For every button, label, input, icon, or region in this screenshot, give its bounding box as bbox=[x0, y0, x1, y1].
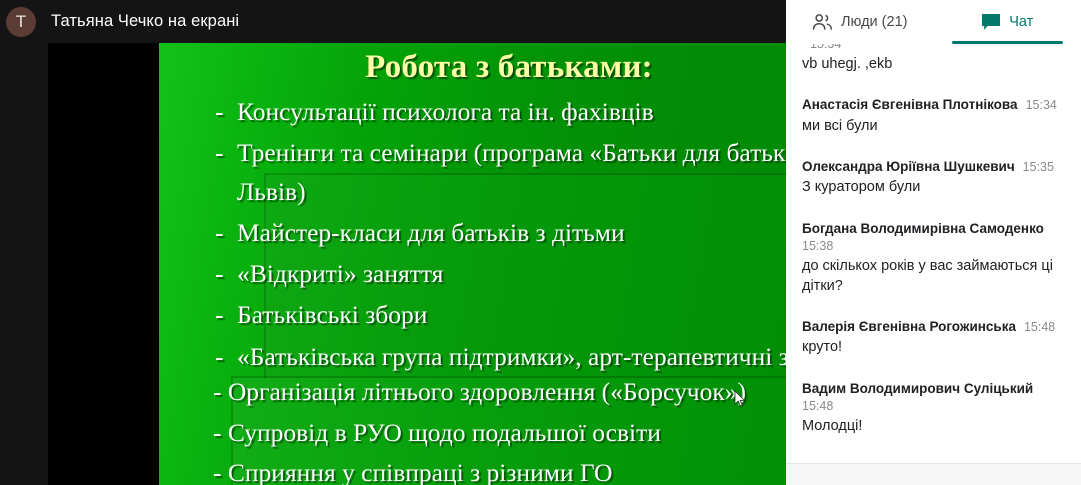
bullet-text: Батьківські збори bbox=[237, 296, 786, 334]
avatar: T bbox=[6, 7, 36, 37]
chat-message: Валерія Євгенівна Рогожинська 15:48 крут… bbox=[786, 318, 1081, 358]
bullet-dash: - bbox=[215, 255, 237, 293]
chat-message-text: vb uhegj. ,ekb bbox=[802, 55, 1065, 75]
chat-message-header: Анастасія Євгенівна Плотнікова 15:34 bbox=[802, 96, 1065, 114]
presenter-topbar: T Татьяна Чечко на екрані bbox=[0, 0, 786, 43]
slide-bullet-list-lower: - Організація літнього здоровлення («Бор… bbox=[213, 373, 786, 485]
page-title: Татьяна Чечко на екрані bbox=[51, 12, 239, 31]
chat-message-time: 15:48 bbox=[1024, 319, 1055, 336]
chat-message-author: Вадим Володимирович Суліцький bbox=[802, 380, 1033, 398]
chat-message: Богдана Володимирівна Самоденко 15:38 до… bbox=[786, 220, 1081, 296]
bullet-dash: - bbox=[215, 134, 237, 211]
tab-chat-label: Чат bbox=[1009, 14, 1033, 30]
chat-message-text: ми всі були bbox=[802, 117, 1065, 137]
chat-message-header: Богдана Володимирівна Самоденко 15:38 bbox=[802, 220, 1065, 255]
chat-message-header: 15:34 bbox=[802, 44, 1065, 53]
bullet-dash: - bbox=[215, 338, 237, 376]
slide-bullet-list: - Консультації психолога та ін. фахівців… bbox=[215, 93, 786, 379]
slide-bullet-item: - «Відкриті» заняття bbox=[215, 255, 786, 293]
chat-message: 15:34 vb uhegj. ,ekb bbox=[786, 44, 1081, 74]
chat-message-header: Олександра Юріївна Шушкевич 15:35 bbox=[802, 158, 1065, 176]
chat-composer-area[interactable] bbox=[786, 464, 1081, 485]
bullet-dash: - bbox=[215, 296, 237, 334]
chat-message-header: Валерія Євгенівна Рогожинська 15:48 bbox=[802, 318, 1065, 336]
bullet-text: Консультації психолога та ін. фахівців bbox=[237, 93, 786, 131]
slide-bullet-item: - «Батьківська група підтримки», арт-тер… bbox=[215, 338, 786, 376]
slide-bullet-item: - Майстер-класи для батьків з дітьми bbox=[215, 214, 786, 252]
mouse-cursor-icon bbox=[734, 390, 746, 408]
chat-message-author: Анастасія Євгенівна Плотнікова bbox=[802, 96, 1018, 114]
chat-message-author: Богдана Володимирівна Самоденко bbox=[802, 220, 1044, 238]
chat-message-time: 15:34 bbox=[810, 44, 841, 53]
chat-message: Вадим Володимирович Суліцький 15:48 Моло… bbox=[786, 380, 1081, 437]
bullet-text: - Супровід в РУО щодо подальшої освіти bbox=[213, 414, 786, 452]
slide-bullet-item: - Консультації психолога та ін. фахівців bbox=[215, 93, 786, 131]
slide-bullet-item: - Тренінги та семінари (програма «Батьки… bbox=[215, 134, 786, 211]
chat-message-author: Валерія Євгенівна Рогожинська bbox=[802, 318, 1016, 336]
meeting-screen: T Татьяна Чечко на екрані Робота з батьк… bbox=[0, 0, 1081, 485]
shared-screen-stage[interactable]: Робота з батьками: - Консультації психол… bbox=[0, 43, 786, 485]
chat-message-time: 15:35 bbox=[1023, 159, 1054, 176]
tab-chat[interactable]: Чат bbox=[934, 0, 1081, 44]
chat-message-author: Олександра Юріївна Шушкевич bbox=[802, 158, 1015, 176]
slide-content: Робота з батьками: - Консультації психол… bbox=[159, 43, 786, 485]
tab-people[interactable]: Люди (21) bbox=[786, 0, 934, 44]
bullet-text: «Відкриті» заняття bbox=[237, 255, 786, 293]
slide-bullet-item: - Батьківські збори bbox=[215, 296, 786, 334]
chat-message-text: до скількох років у вас займаються ці ді… bbox=[802, 257, 1065, 296]
bullet-dash: - bbox=[215, 214, 237, 252]
chat-message-time: 15:38 bbox=[802, 238, 833, 255]
bullet-text: Тренінги та семінари (програма «Батьки д… bbox=[237, 134, 786, 211]
slide-title: Робота з батьками: bbox=[159, 49, 786, 86]
presentation-slide: Робота з батьками: - Консультації психол… bbox=[159, 43, 786, 485]
bullet-text: - Сприяння у співпраці з різними ГО bbox=[213, 454, 786, 485]
side-panel: Люди (21) Чат 15:34 vb uhegj. ,ekb Анаст… bbox=[786, 0, 1081, 485]
chat-bubble-icon bbox=[981, 13, 1001, 32]
bullet-text: «Батьківська група підтримки», арт-терап… bbox=[237, 338, 786, 376]
chat-message-list[interactable]: 15:34 vb uhegj. ,ekb Анастасія Євгенівна… bbox=[786, 44, 1081, 463]
chat-message-header: Вадим Володимирович Суліцький 15:48 bbox=[802, 380, 1065, 415]
chat-message: Олександра Юріївна Шушкевич 15:35 З кура… bbox=[786, 158, 1081, 198]
people-icon bbox=[812, 13, 833, 31]
video-letterbox: Робота з батьками: - Консультації психол… bbox=[48, 43, 786, 485]
chat-message: Анастасія Євгенівна Плотнікова 15:34 ми … bbox=[786, 96, 1081, 136]
chat-message-text: Молодці! bbox=[802, 417, 1065, 437]
chat-message-text: З куратором були bbox=[802, 178, 1065, 198]
chat-message-time: 15:48 bbox=[802, 398, 833, 415]
chat-message-text: круто! bbox=[802, 338, 1065, 358]
bullet-dash: - bbox=[215, 93, 237, 131]
chat-message-time: 15:34 bbox=[1026, 97, 1057, 114]
tab-people-label: Люди (21) bbox=[841, 14, 907, 30]
bullet-text: Майстер-класи для батьків з дітьми bbox=[237, 214, 786, 252]
bullet-text: - Організація літнього здоровлення («Бор… bbox=[213, 373, 786, 411]
side-panel-tabs: Люди (21) Чат bbox=[786, 0, 1081, 44]
